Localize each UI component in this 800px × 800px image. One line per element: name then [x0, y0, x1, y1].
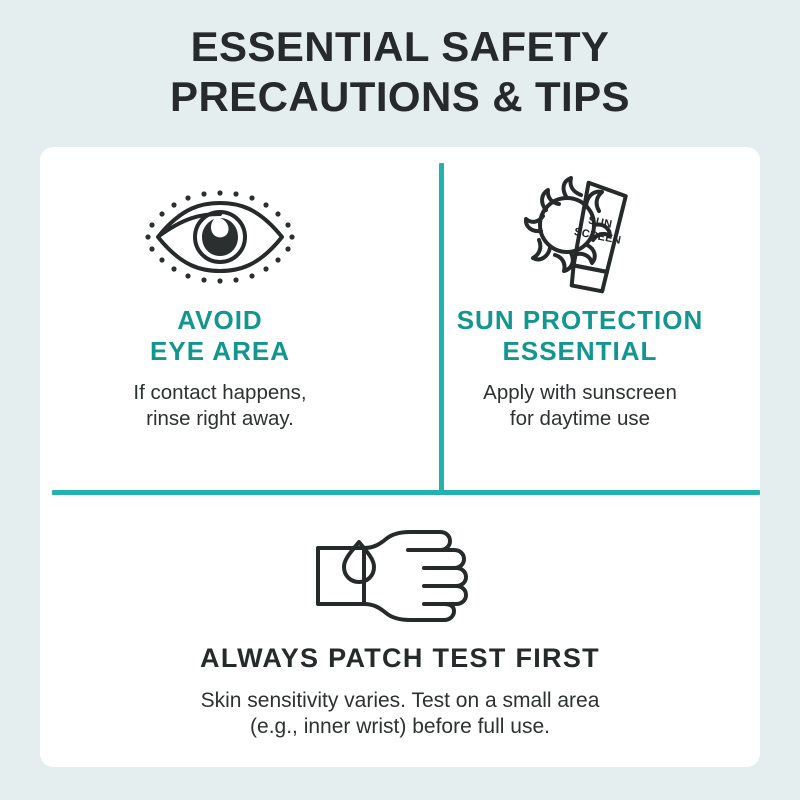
panel-heading: ALWAYS PATCH TEST FIRST: [200, 643, 600, 674]
panel-patch-test: ALWAYS PATCH TEST FIRST Skin sensitivity…: [40, 495, 760, 767]
panel-body-line-2: (e.g., inner wrist) before full use.: [201, 714, 600, 740]
eye-icon: [140, 173, 300, 301]
tips-card: AVOID EYE AREA If contact happens, rinse…: [40, 147, 760, 767]
panel-heading: SUN PROTECTION ESSENTIAL: [457, 305, 704, 366]
panel-heading-line-1: SUN PROTECTION: [457, 305, 704, 336]
panel-body-line-1: Apply with sunscreen: [483, 380, 677, 406]
panel-heading-line-1: AVOID: [150, 305, 290, 336]
panel-body: Apply with sunscreen for daytime use: [483, 380, 677, 431]
panel-sun-protection: SUN SCREEN SUN PROTECTION ESSENTIAL Appl…: [400, 147, 760, 490]
top-panels-row: AVOID EYE AREA If contact happens, rinse…: [40, 147, 760, 490]
page-title-line-2: PRECAUTIONS & TIPS: [0, 72, 800, 122]
panel-body-line-2: for daytime use: [483, 406, 677, 432]
panel-body: If contact happens, rinse right away.: [133, 380, 306, 431]
sunscreen-icon: SUN SCREEN: [515, 173, 645, 301]
tube-label-line-2: SCREEN: [573, 226, 622, 247]
panel-heading: AVOID EYE AREA: [150, 305, 290, 366]
panel-body-line-1: If contact happens,: [133, 380, 306, 406]
panel-heading-line-2: EYE AREA: [150, 336, 290, 367]
panel-body-line-2: rinse right away.: [133, 406, 306, 432]
panel-body: Skin sensitivity varies. Test on a small…: [201, 688, 600, 741]
page-title: ESSENTIAL SAFETY PRECAUTIONS & TIPS: [0, 22, 800, 123]
panel-body-line-1: Skin sensitivity varies. Test on a small…: [201, 688, 600, 714]
safety-precautions-infographic: ESSENTIAL SAFETY PRECAUTIONS & TIPS: [0, 0, 800, 800]
panel-avoid-eye-area: AVOID EYE AREA If contact happens, rinse…: [40, 147, 400, 490]
page-title-line-1: ESSENTIAL SAFETY: [0, 22, 800, 72]
hand-droplet-icon: [312, 517, 488, 635]
panel-heading-line-2: ESSENTIAL: [457, 336, 704, 367]
